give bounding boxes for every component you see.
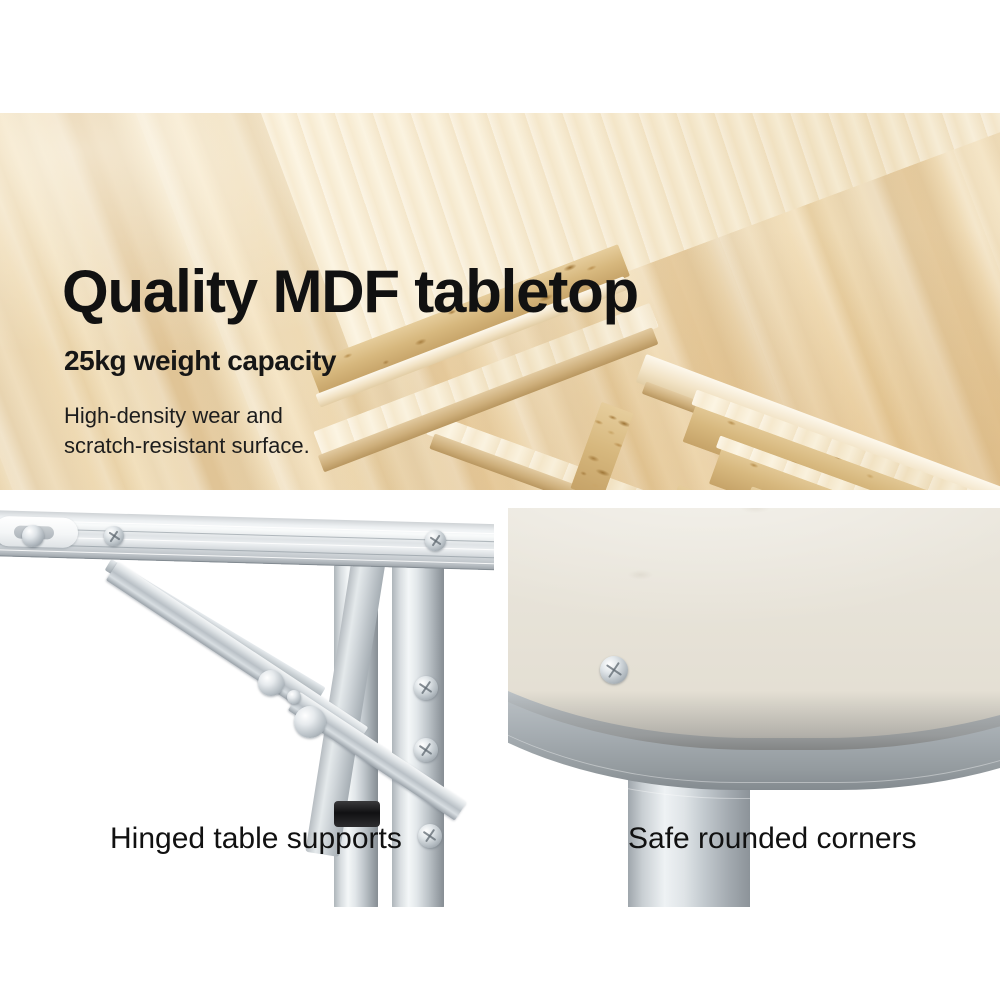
leg-screw-mid (414, 738, 438, 762)
hinge-pivot-small (287, 690, 301, 704)
leg-screw-upper (414, 676, 438, 700)
hero-image-mdf-tabletop: Quality MDF tabletop 25kg weight capacit… (0, 113, 1000, 490)
hero-body-text: High-density wear and scratch-resistant … (64, 401, 310, 461)
mdf-block-chipboard-left (570, 402, 633, 490)
hinge-pivot-main (258, 670, 284, 696)
rail-screw-left (104, 526, 124, 546)
caption-hinged-table-supports: Hinged table supports (110, 824, 402, 854)
edge-band-screw (600, 656, 628, 684)
hero-subheading: 25kg weight capacity (64, 347, 336, 375)
page-title: Quality MDF tabletop (62, 262, 638, 322)
tabletop-edge-shadow (508, 508, 1000, 750)
hinge-bolt (22, 525, 44, 547)
caption-safe-rounded-corners: Safe rounded corners (628, 824, 917, 854)
product-feature-infographic: Quality MDF tabletop 25kg weight capacit… (0, 0, 1000, 1000)
rail-screw-right (425, 530, 446, 551)
hinge-knuckle (294, 706, 326, 738)
leg-screw-lower (418, 824, 442, 848)
